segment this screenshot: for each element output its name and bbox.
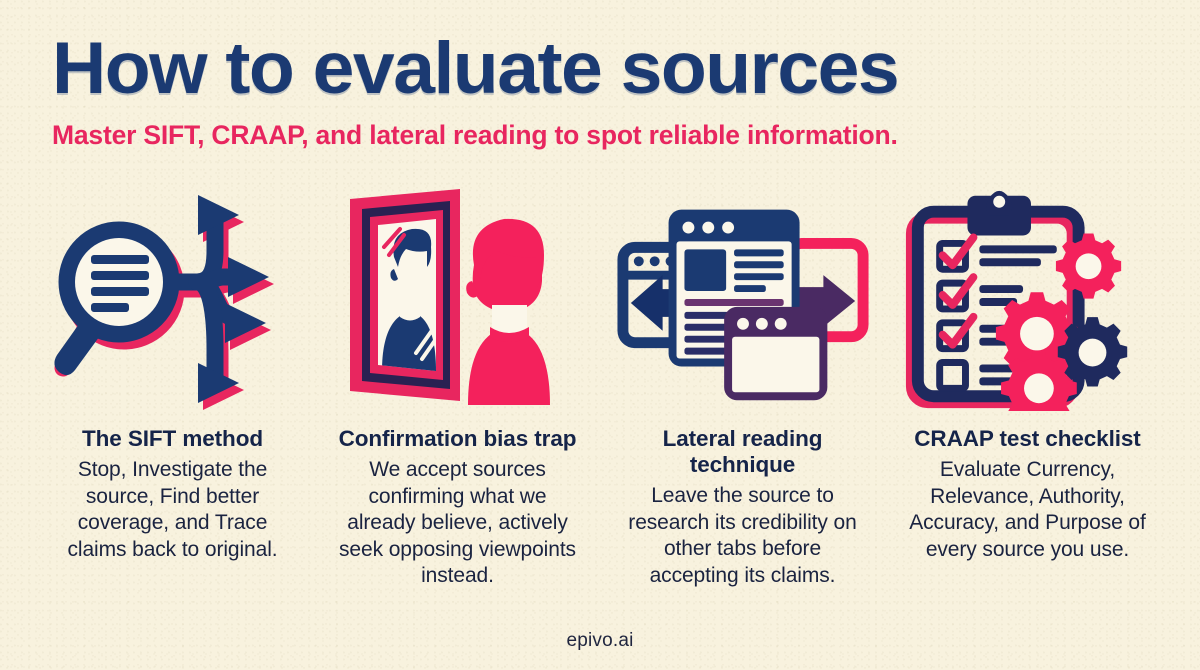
clipboard-checklist-gears-icon: [898, 182, 1158, 414]
card-craap-test: CRAAP test checklist Evaluate Currency, …: [885, 182, 1170, 563]
card-title: CRAAP test checklist: [914, 426, 1140, 452]
page-title: How to evaluate sources: [52, 32, 1185, 106]
card-title: The SIFT method: [82, 426, 263, 452]
page-subtitle: Master SIFT, CRAAP, and lateral reading …: [52, 120, 1152, 150]
card-title: Lateral reading technique: [618, 426, 868, 478]
footer-brand: epivo.ai: [0, 630, 1200, 652]
card-sift-method: The SIFT method Stop, Investigate the so…: [30, 182, 315, 563]
header: How to evaluate sources Master SIFT, CRA…: [52, 32, 1152, 150]
mirror-reflection-person-icon: [328, 182, 588, 414]
infographic-root: How to evaluate sources Master SIFT, CRA…: [0, 0, 1200, 670]
card-title: Confirmation bias trap: [339, 426, 577, 452]
cards-row: The SIFT method Stop, Investigate the so…: [30, 182, 1170, 590]
card-body: Evaluate Currency, Relevance, Authority,…: [899, 457, 1157, 563]
browser-tabs-arrows-icon: [613, 182, 873, 414]
card-lateral-reading: Lateral reading technique Leave the sour…: [600, 182, 885, 589]
card-body: We accept sources confirming what we alr…: [336, 457, 580, 590]
card-body: Leave the source to research its credibi…: [623, 483, 863, 589]
card-confirmation-bias: Confirmation bias trap We accept sources…: [315, 182, 600, 590]
card-body: Stop, Investigate the source, Find bette…: [48, 457, 298, 563]
magnifier-branching-arrows-icon: [43, 182, 303, 414]
